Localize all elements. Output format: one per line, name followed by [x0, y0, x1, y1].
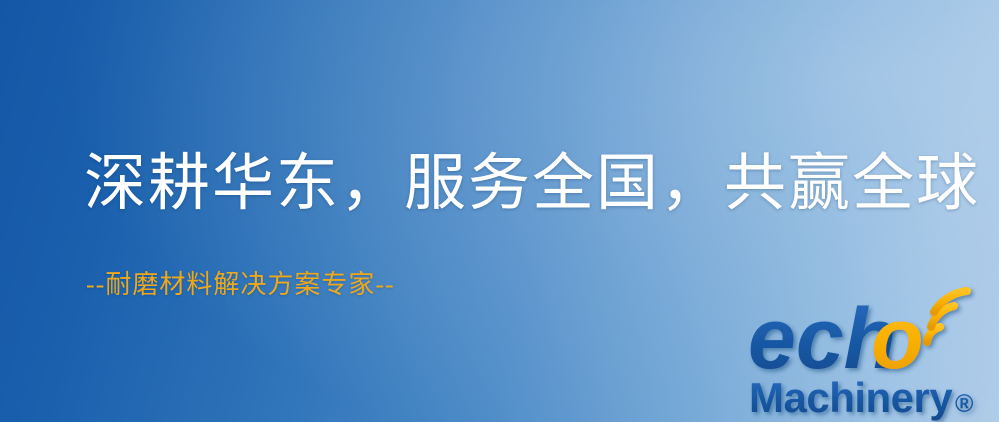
- page-title: 深耕华东，服务全国，共赢全球: [84, 152, 980, 217]
- hero-banner: 深耕华东，服务全国，共赢全球 --耐磨材料解决方案专家--: [0, 0, 999, 422]
- logo-artwork: ech o Machinery ®: [748, 296, 996, 422]
- registered-trademark-icon: ®: [955, 390, 974, 418]
- logo-letter-o: o: [871, 291, 924, 387]
- tagline: --耐磨材料解决方案专家--: [86, 264, 395, 301]
- echo-wave-icon: [927, 291, 967, 342]
- logo-text-machinery: Machinery: [749, 374, 953, 421]
- company-logo[interactable]: ech o Machinery ®: [748, 296, 996, 422]
